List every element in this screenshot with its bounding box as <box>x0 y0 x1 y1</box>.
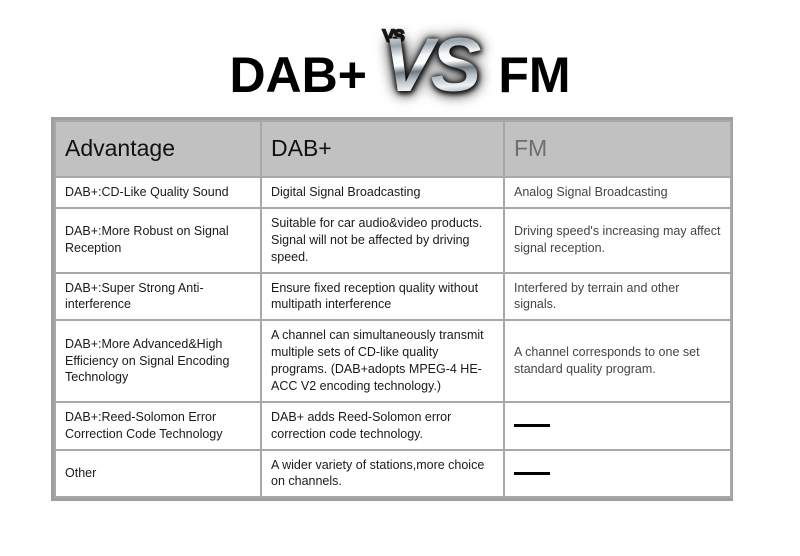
header-dab-label: DAB+ <box>271 135 332 161</box>
not-applicable-dash-icon <box>514 472 550 475</box>
table-row: DAB+:More Advanced&High Efficiency on Si… <box>55 320 731 402</box>
cell-advantage-text: DAB+:CD-Like Quality Sound <box>65 184 251 201</box>
header-advantage: Advantage <box>55 121 261 177</box>
title-word-fm: FM <box>498 32 570 100</box>
cell-dab: A wider variety of stations,more choice … <box>261 450 504 498</box>
cell-advantage-text: DAB+:Super Strong Anti-interference <box>65 280 251 314</box>
header-advantage-label: Advantage <box>65 135 175 161</box>
cell-dab-text: DAB+ adds Reed-Solomon error correction … <box>271 409 494 443</box>
vs-badge: VS VS <box>377 28 484 104</box>
cell-advantage: DAB+:Super Strong Anti-interference <box>55 273 261 321</box>
cell-advantage: DAB+:More Advanced&High Efficiency on Si… <box>55 320 261 402</box>
table-body: DAB+:CD-Like Quality Sound Digital Signa… <box>55 177 731 497</box>
table-row: DAB+:Reed-Solomon Error Correction Code … <box>55 402 731 450</box>
cell-dab: Ensure fixed reception quality without m… <box>261 273 504 321</box>
table-header-row: Advantage DAB+ FM <box>55 121 731 177</box>
cell-fm-text: A channel corresponds to one set standar… <box>514 344 721 378</box>
table-row: DAB+:Super Strong Anti-interference Ensu… <box>55 273 731 321</box>
cell-advantage-text: Other <box>65 465 251 482</box>
cell-fm-text: Driving speed's increasing may affect si… <box>514 223 721 257</box>
cell-advantage: Other <box>55 450 261 498</box>
header-fm: FM <box>504 121 731 177</box>
cell-dab: A channel can simultaneously transmit mu… <box>261 320 504 402</box>
cell-dab: Suitable for car audio&video products. S… <box>261 208 504 273</box>
table-row: DAB+:More Robust on Signal Reception Sui… <box>55 208 731 273</box>
cell-dab-text: A channel can simultaneously transmit mu… <box>271 327 494 395</box>
cell-dab-text: Suitable for car audio&video products. S… <box>271 215 494 266</box>
table-row: DAB+:CD-Like Quality Sound Digital Signa… <box>55 177 731 208</box>
cell-fm: A channel corresponds to one set standar… <box>504 320 731 402</box>
cell-advantage-text: DAB+:More Robust on Signal Reception <box>65 223 251 257</box>
page-root: DAB+ VS VS FM Advantage DAB+ <box>0 0 800 556</box>
cell-dab-text: Digital Signal Broadcasting <box>271 184 494 201</box>
comparison-table-wrapper: Advantage DAB+ FM DAB+:CD-Like Quality S… <box>51 117 733 501</box>
table-row: Other A wider variety of stations,more c… <box>55 450 731 498</box>
cell-dab-text: A wider variety of stations,more choice … <box>271 457 494 491</box>
cell-dab-text: Ensure fixed reception quality without m… <box>271 280 494 314</box>
cell-advantage: DAB+:Reed-Solomon Error Correction Code … <box>55 402 261 450</box>
cell-dab: Digital Signal Broadcasting <box>261 177 504 208</box>
not-applicable-dash-icon <box>514 424 550 427</box>
cell-fm-text: Analog Signal Broadcasting <box>514 184 721 201</box>
cell-fm <box>504 450 731 498</box>
cell-fm: Driving speed's increasing may affect si… <box>504 208 731 273</box>
cell-advantage: DAB+:CD-Like Quality Sound <box>55 177 261 208</box>
header-dab: DAB+ <box>261 121 504 177</box>
cell-advantage: DAB+:More Robust on Signal Reception <box>55 208 261 273</box>
cell-advantage-text: DAB+:Reed-Solomon Error Correction Code … <box>65 409 251 443</box>
page-title: DAB+ VS VS FM <box>0 22 800 110</box>
cell-dab: DAB+ adds Reed-Solomon error correction … <box>261 402 504 450</box>
title-word-dab: DAB+ <box>229 32 367 100</box>
cell-fm-text: Interfered by terrain and other signals. <box>514 280 721 314</box>
header-fm-label: FM <box>514 135 547 161</box>
vs-badge-text: VS <box>377 23 484 108</box>
cell-advantage-text: DAB+:More Advanced&High Efficiency on Si… <box>65 336 251 387</box>
cell-fm <box>504 402 731 450</box>
comparison-table: Advantage DAB+ FM DAB+:CD-Like Quality S… <box>54 120 732 498</box>
cell-fm: Interfered by terrain and other signals. <box>504 273 731 321</box>
cell-fm: Analog Signal Broadcasting <box>504 177 731 208</box>
table-header: Advantage DAB+ FM <box>55 121 731 177</box>
